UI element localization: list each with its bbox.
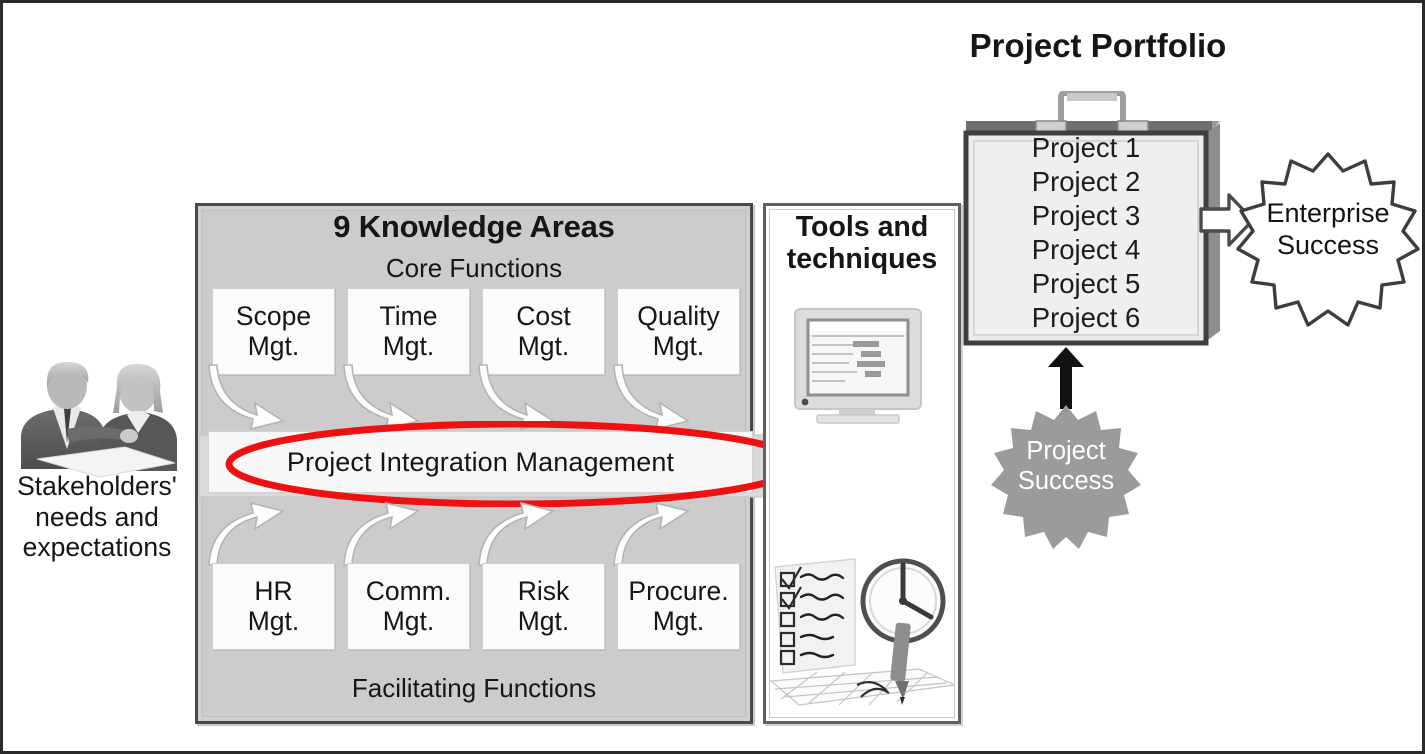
project-portfolio-title: Project Portfolio bbox=[903, 29, 1293, 63]
enterprise-success-label: Enterprise Success bbox=[1235, 198, 1421, 261]
box-line-1: Scope bbox=[236, 301, 311, 331]
checklist-clock-pen-icon bbox=[769, 539, 955, 719]
knowledge-area-box-comm[interactable]: Comm.Mgt. bbox=[347, 563, 470, 650]
stakeholders-caption: Stakeholders' needs and expectations bbox=[7, 471, 187, 563]
box-line-1: Comm. bbox=[366, 576, 451, 606]
knowledge-areas-title: 9 Knowledge Areas bbox=[195, 211, 753, 243]
enterprise-success-burst: Enterprise Success bbox=[1235, 151, 1421, 329]
list-item: Project 2 bbox=[970, 165, 1202, 199]
list-item: Project 4 bbox=[970, 233, 1202, 267]
list-item: Project 6 bbox=[970, 301, 1202, 335]
facilitating-functions-label: Facilitating Functions bbox=[195, 675, 753, 702]
project-success-label: Project Success bbox=[991, 437, 1141, 497]
box-line-2: Mgt. bbox=[248, 331, 300, 361]
box-line-2: Mgt. bbox=[383, 606, 435, 636]
box-line-1: Time bbox=[380, 301, 438, 331]
knowledge-area-box-time[interactable]: TimeMgt. bbox=[347, 288, 470, 375]
box-line-1: Quality bbox=[637, 301, 719, 331]
box-line-1: Cost bbox=[516, 301, 571, 331]
core-functions-label: Core Functions bbox=[195, 255, 753, 282]
two-business-people-icon bbox=[7, 351, 187, 481]
list-item: Project 5 bbox=[970, 267, 1202, 301]
tools-and-techniques-title: Tools and techniques bbox=[763, 211, 961, 275]
knowledge-area-box-procurement[interactable]: Procure.Mgt. bbox=[617, 563, 740, 650]
box-line-1: HR bbox=[254, 576, 292, 606]
stakeholders-group: Stakeholders' needs and expectations bbox=[7, 351, 187, 619]
list-item: Project 1 bbox=[970, 131, 1202, 165]
box-line-2: Mgt. bbox=[248, 606, 300, 636]
knowledge-area-box-quality[interactable]: QualityMgt. bbox=[617, 288, 740, 375]
box-line-2: Mgt. bbox=[653, 331, 705, 361]
knowledge-area-box-scope[interactable]: ScopeMgt. bbox=[212, 288, 335, 375]
knowledge-area-box-cost[interactable]: CostMgt. bbox=[482, 288, 605, 375]
box-line-2: Mgt. bbox=[518, 331, 570, 361]
project-success-to-portfolio-arrow bbox=[1038, 347, 1094, 409]
project-portfolio-briefcase: Project 1 Project 2 Project 3 Project 4 … bbox=[958, 91, 1223, 353]
box-line-1: Procure. bbox=[628, 576, 728, 606]
list-item: Project 3 bbox=[970, 199, 1202, 233]
project-integration-label: Project Integration Management bbox=[208, 448, 753, 476]
knowledge-area-box-hr[interactable]: HRMgt. bbox=[212, 563, 335, 650]
box-line-2: Mgt. bbox=[383, 331, 435, 361]
box-line-2: Mgt. bbox=[518, 606, 570, 636]
project-success-burst: Project Success bbox=[991, 403, 1141, 551]
knowledge-area-box-risk[interactable]: RiskMgt. bbox=[482, 563, 605, 650]
computer-monitor-icon bbox=[791, 305, 933, 427]
box-line-1: Risk bbox=[518, 576, 570, 606]
box-line-2: Mgt. bbox=[653, 606, 705, 636]
diagram-canvas: Stakeholders' needs and expectations 9 K… bbox=[0, 0, 1425, 754]
project-list: Project 1 Project 2 Project 3 Project 4 … bbox=[970, 131, 1202, 336]
